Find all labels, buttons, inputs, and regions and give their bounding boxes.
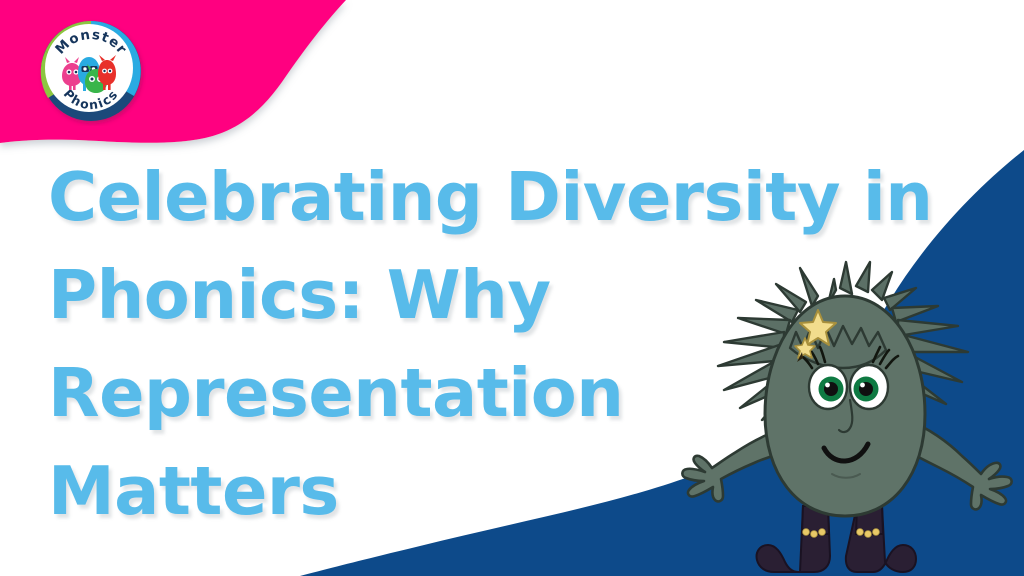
monster-group	[682, 262, 1011, 572]
banner-canvas: Celebrating Diversity in Phonics: Why Re…	[0, 0, 1024, 576]
mascot-monster	[0, 0, 1024, 576]
monster-phonics-logo[interactable]: Monster Phonics	[36, 16, 146, 126]
